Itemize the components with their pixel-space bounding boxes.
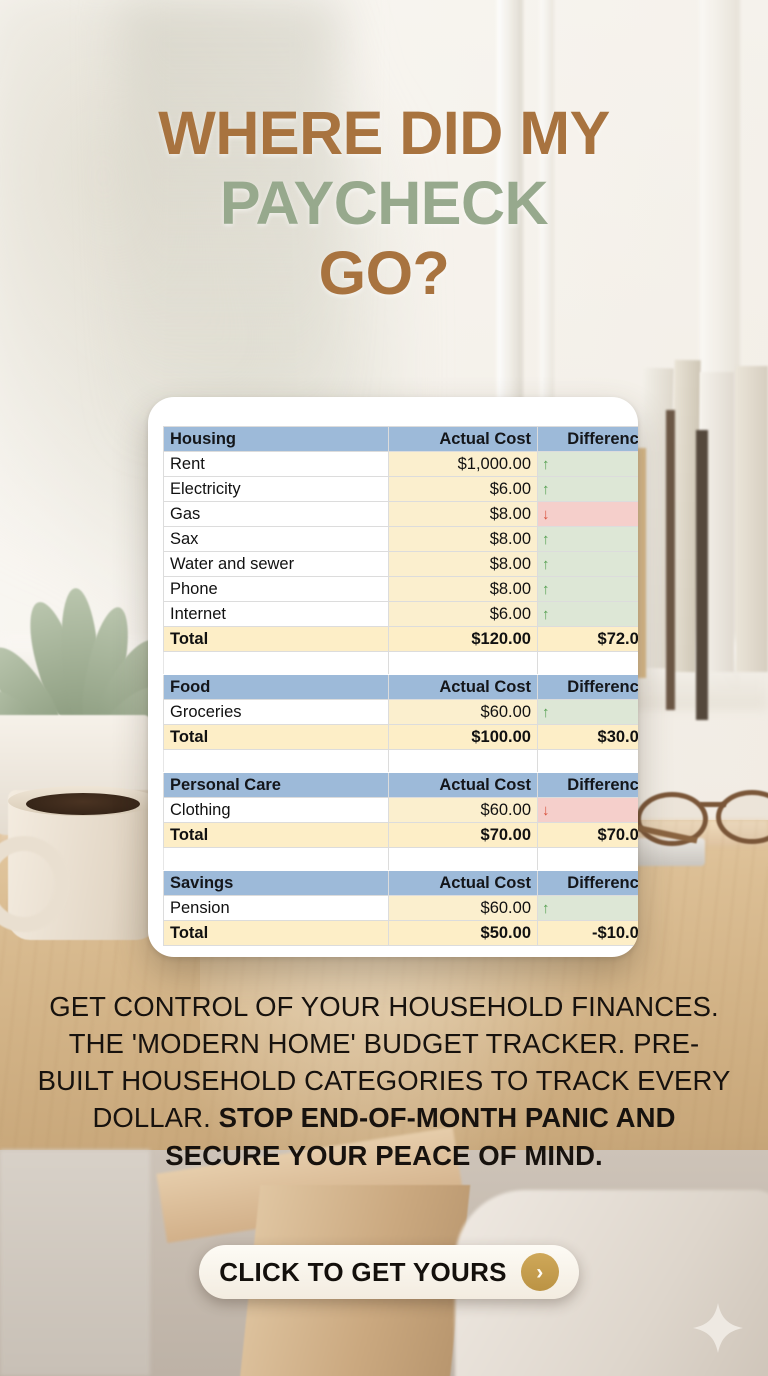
cta-button[interactable]: CLICK TO GET YOURS › — [199, 1245, 579, 1299]
table-row: Internet$6.00↑ — [164, 602, 639, 627]
expense-cost: $60.00 — [389, 896, 538, 921]
column-header-difference: Difference — [538, 427, 639, 452]
headline-line-2: PAYCHECK — [0, 174, 768, 234]
expense-name: Gas — [164, 502, 389, 527]
section-title: Food — [164, 675, 389, 700]
body-copy: GET CONTROL OF YOUR HOUSEHOLD FINANCES. … — [34, 988, 734, 1174]
total-label: Total — [164, 823, 389, 848]
up-arrow-icon: ↑ — [538, 527, 639, 552]
chevron-right-icon: › — [521, 1253, 559, 1291]
headline-line-3: GO? — [0, 244, 768, 304]
up-arrow-icon: ↑ — [538, 552, 639, 577]
total-cost: $120.00 — [389, 627, 538, 652]
headline-line-1: WHERE DID MY — [0, 104, 768, 164]
down-arrow-icon: ↓ — [538, 502, 639, 527]
coffee-surface — [26, 793, 140, 815]
column-header-difference: Difference — [538, 773, 639, 798]
expense-cost: $60.00 — [389, 700, 538, 725]
expense-cost: $6.00 — [389, 602, 538, 627]
section-header-row: FoodActual CostDifference — [164, 675, 639, 700]
column-header-actual-cost: Actual Cost — [389, 773, 538, 798]
book-spine-dark — [696, 430, 708, 720]
total-label: Total — [164, 725, 389, 750]
table-row: Pension$60.00↑ — [164, 896, 639, 921]
total-label: Total — [164, 627, 389, 652]
total-label: Total — [164, 921, 389, 946]
spacer-row — [164, 848, 639, 871]
down-arrow-icon: ↓ — [538, 798, 639, 823]
total-difference: $70.00 — [538, 823, 639, 848]
column-header-actual-cost: Actual Cost — [389, 871, 538, 896]
up-arrow-icon: ↑ — [538, 602, 639, 627]
expense-cost: $1,000.00 — [389, 452, 538, 477]
total-row: Total$120.00$72.00 — [164, 627, 639, 652]
total-cost: $50.00 — [389, 921, 538, 946]
total-difference: $30.00 — [538, 725, 639, 750]
book-stack — [736, 366, 768, 672]
eyeglasses-bridge — [700, 802, 726, 807]
up-arrow-icon: ↑ — [538, 896, 639, 921]
section-title: Personal Care — [164, 773, 389, 798]
total-row: Total$50.00-$10.00 — [164, 921, 639, 946]
body-copy-bold: STOP END-OF-MONTH PANIC AND SECURE YOUR … — [165, 1102, 675, 1170]
section-header-row: Personal CareActual CostDifference — [164, 773, 639, 798]
up-arrow-icon: ↑ — [538, 452, 639, 477]
table-row: Gas$8.00↓ — [164, 502, 639, 527]
table-row: Clothing$60.00↓ — [164, 798, 639, 823]
budget-table: HousingActual CostDifferenceRent$1,000.0… — [163, 426, 638, 946]
table-row: Sax$8.00↑ — [164, 527, 639, 552]
section-header-row: SavingsActual CostDifference — [164, 871, 639, 896]
total-row: Total$100.00$30.00 — [164, 725, 639, 750]
column-header-difference: Difference — [538, 675, 639, 700]
table-row: Water and sewer$8.00↑ — [164, 552, 639, 577]
expense-name: Pension — [164, 896, 389, 921]
sparkle-star-icon — [690, 1300, 746, 1356]
column-header-difference: Difference — [538, 871, 639, 896]
expense-cost: $8.00 — [389, 552, 538, 577]
spacer-row — [164, 750, 639, 773]
table-row: Groceries$60.00↑ — [164, 700, 639, 725]
total-difference: -$10.00 — [538, 921, 639, 946]
headline: WHERE DID MY PAYCHECK GO? — [0, 104, 768, 303]
expense-cost: $6.00 — [389, 477, 538, 502]
table-row: Phone$8.00↑ — [164, 577, 639, 602]
expense-name: Clothing — [164, 798, 389, 823]
wall-left — [0, 1150, 150, 1376]
table-row: Rent$1,000.00↑ — [164, 452, 639, 477]
expense-name: Phone — [164, 577, 389, 602]
expense-name: Water and sewer — [164, 552, 389, 577]
section-title: Housing — [164, 427, 389, 452]
column-header-actual-cost: Actual Cost — [389, 675, 538, 700]
table-row: Electricity$6.00↑ — [164, 477, 639, 502]
expense-name: Sax — [164, 527, 389, 552]
expense-cost: $8.00 — [389, 527, 538, 552]
up-arrow-icon: ↑ — [538, 577, 639, 602]
section-header-row: HousingActual CostDifference — [164, 427, 639, 452]
total-difference: $72.00 — [538, 627, 639, 652]
up-arrow-icon: ↑ — [538, 477, 639, 502]
column-header-actual-cost: Actual Cost — [389, 427, 538, 452]
total-cost: $100.00 — [389, 725, 538, 750]
total-cost: $70.00 — [389, 823, 538, 848]
expense-name: Rent — [164, 452, 389, 477]
expense-cost: $60.00 — [389, 798, 538, 823]
expense-cost: $8.00 — [389, 577, 538, 602]
total-row: Total$70.00$70.00 — [164, 823, 639, 848]
up-arrow-icon: ↑ — [538, 700, 639, 725]
budget-spreadsheet-card: HousingActual CostDifferenceRent$1,000.0… — [148, 397, 638, 957]
expense-name: Groceries — [164, 700, 389, 725]
poster-canvas: WHERE DID MY PAYCHECK GO? HousingActual … — [0, 0, 768, 1376]
section-title: Savings — [164, 871, 389, 896]
expense-cost: $8.00 — [389, 502, 538, 527]
book-spine-dark — [666, 410, 675, 710]
expense-name: Electricity — [164, 477, 389, 502]
expense-name: Internet — [164, 602, 389, 627]
cta-label: CLICK TO GET YOURS — [219, 1257, 507, 1288]
spreadsheet: HousingActual CostDifferenceRent$1,000.0… — [163, 426, 623, 946]
spacer-row — [164, 652, 639, 675]
